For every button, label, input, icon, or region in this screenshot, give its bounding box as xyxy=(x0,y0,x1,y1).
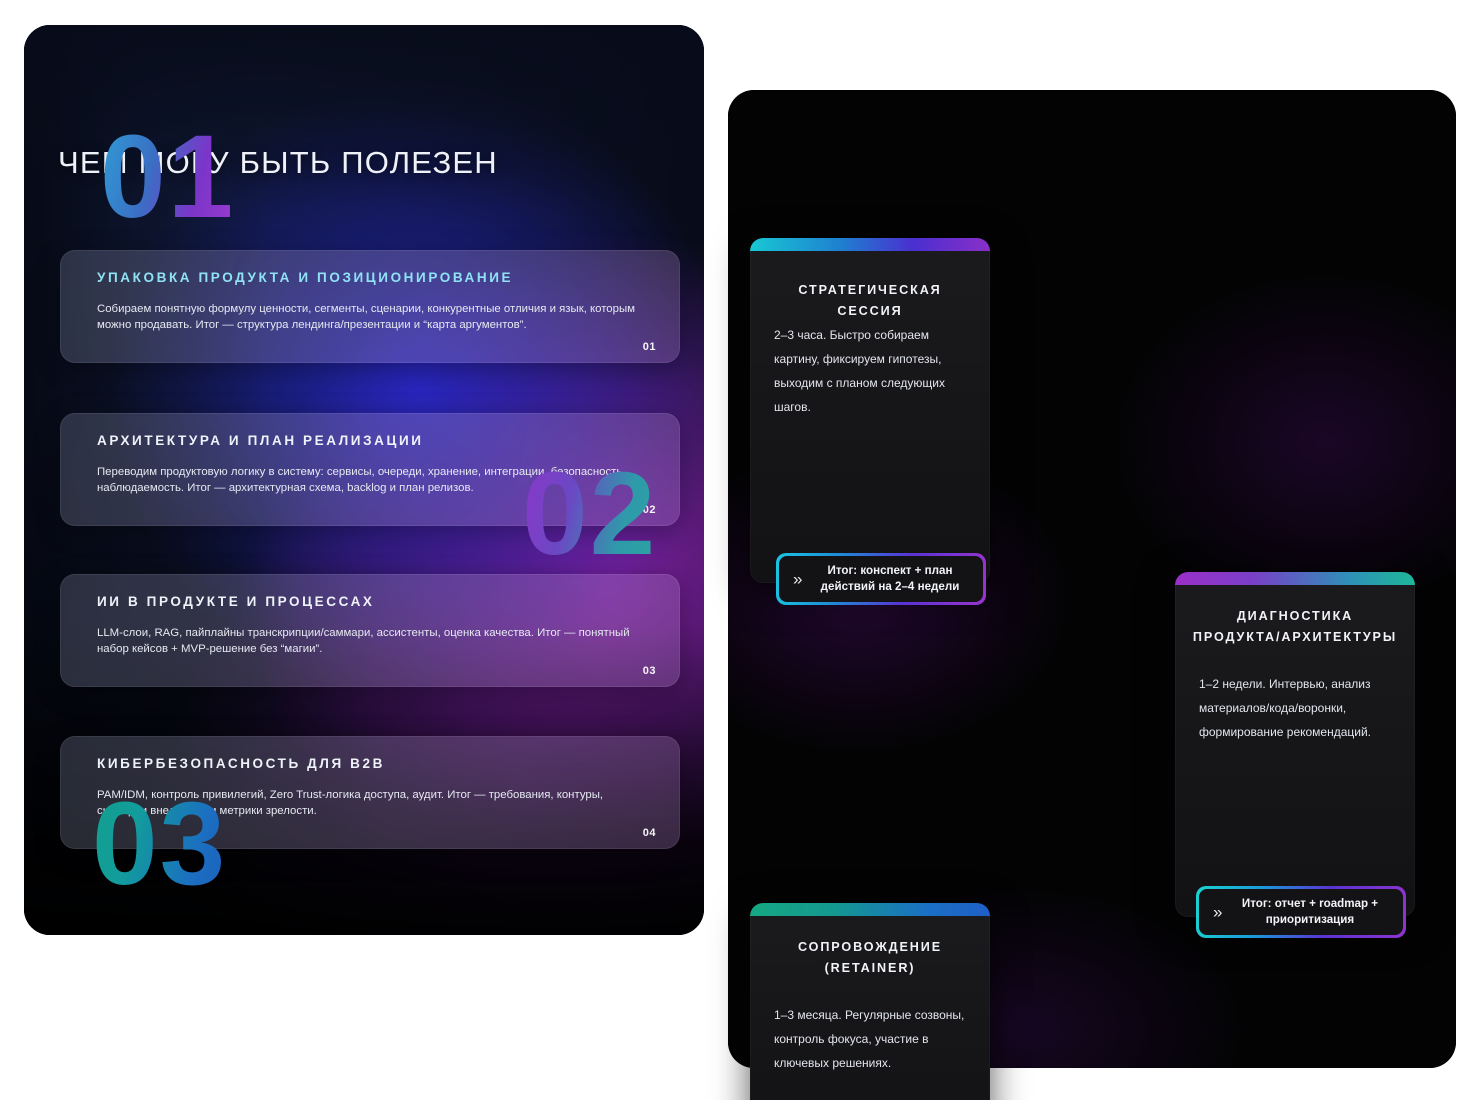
step-card-01[interactable]: СТРАТЕГИЧЕСКАЯ СЕССИЯ 2–3 часа. Быстро с… xyxy=(750,238,990,583)
step-card-accent-bar xyxy=(1175,572,1415,585)
step-card-title: СОПРОВОЖДЕНИЕ (RETAINER) xyxy=(766,937,974,979)
step-card-title: СТРАТЕГИЧЕСКАЯ СЕССИЯ xyxy=(766,280,974,322)
service-card-body: LLM-слои, RAG, пайплайны транскрипции/са… xyxy=(97,626,640,657)
formats-section-title: ФОРМАТЫ РАБОТЫ xyxy=(58,930,372,935)
service-card-03[interactable]: ИИ В ПРОДУКТЕ И ПРОЦЕССАХ LLM-слои, RAG,… xyxy=(60,574,680,687)
step-card-title-line1: СОПРОВОЖДЕНИЕ xyxy=(798,940,942,954)
step-card-body: 2–3 часа. Быстро собираем картину, фикси… xyxy=(774,323,970,419)
step-number-03: 03 xyxy=(92,785,227,903)
step-number-01: 01 xyxy=(100,118,235,236)
service-card-title: АРХИТЕКТУРА И ПЛАН РЕАЛИЗАЦИИ xyxy=(97,433,424,448)
step-card-03[interactable]: СОПРОВОЖДЕНИЕ (RETAINER) 1–3 месяца. Рег… xyxy=(750,903,990,1100)
service-card-body: Собираем понятную формулу ценности, сегм… xyxy=(97,302,640,333)
service-card-number: 01 xyxy=(643,341,656,353)
step-card-body: 1–2 недели. Интервью, анализ материалов/… xyxy=(1199,672,1395,744)
double-chevron-right-icon: » xyxy=(1213,904,1222,921)
step-result-badge-label: Итог: конспект + план действий на 2–4 не… xyxy=(779,563,983,595)
step-number-02: 02 xyxy=(522,455,657,573)
service-card-title: УПАКОВКА ПРОДУКТА И ПОЗИЦИОНИРОВАНИЕ xyxy=(97,270,513,285)
step-card-02[interactable]: ДИАГНОСТИКА ПРОДУКТА/АРХИТЕКТУРЫ 1–2 нед… xyxy=(1175,572,1415,917)
step-result-badge-label: Итог: отчет + roadmap + приоритизация xyxy=(1199,896,1403,928)
step-card-title: ДИАГНОСТИКА ПРОДУКТА/АРХИТЕКТУРЫ xyxy=(1191,606,1399,648)
step-card-accent-bar xyxy=(750,238,990,251)
step-card-accent-bar xyxy=(750,903,990,916)
step-result-badge-01[interactable]: » Итог: конспект + план действий на 2–4 … xyxy=(776,553,986,605)
screenshot-root: ЧЕМ МОГУ БЫТЬ ПОЛЕЗЕН УПАКОВКА ПРОДУКТА … xyxy=(0,0,1480,1100)
double-chevron-right-icon: » xyxy=(793,571,802,588)
step-result-badge-02[interactable]: » Итог: отчет + roadmap + приоритизация xyxy=(1196,886,1406,938)
service-card-title: ИИ В ПРОДУКТЕ И ПРОЦЕССАХ xyxy=(97,594,375,609)
step-card-body: 1–3 месяца. Регулярные созвоны, контроль… xyxy=(774,1003,970,1075)
service-card-01[interactable]: УПАКОВКА ПРОДУКТА И ПОЗИЦИОНИРОВАНИЕ Соб… xyxy=(60,250,680,363)
service-card-number: 04 xyxy=(643,827,656,839)
service-card-number: 03 xyxy=(643,665,656,677)
step-card-title-line2: (RETAINER) xyxy=(825,961,916,975)
service-card-title: КИБЕРБЕЗОПАСНОСТЬ ДЛЯ B2B xyxy=(97,756,385,771)
